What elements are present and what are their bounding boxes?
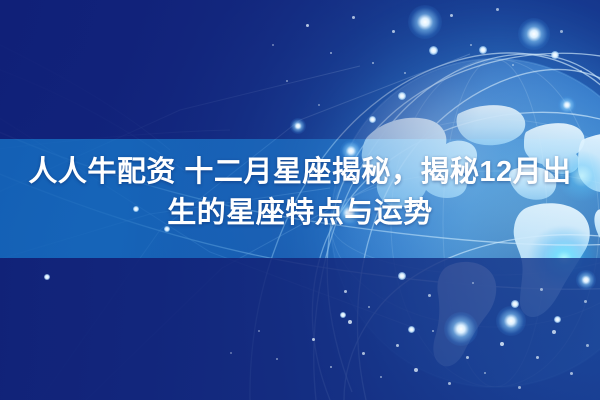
- bokeh-dot-particle: [392, 30, 395, 33]
- bokeh-dot-particle: [352, 16, 355, 19]
- bokeh-dot-particle: [344, 290, 347, 293]
- network-node-dot: [398, 92, 406, 100]
- bokeh-dot-particle: [580, 70, 582, 72]
- bokeh-dot-particle: [450, 14, 453, 17]
- network-node-dot: [429, 46, 438, 55]
- bokeh-dot-particle: [518, 386, 521, 389]
- bokeh-dot-particle: [230, 352, 232, 354]
- network-node-dot: [408, 326, 415, 333]
- bokeh-dot-particle: [330, 52, 332, 54]
- bokeh-dot-particle: [584, 300, 587, 303]
- bokeh-dot-particle: [362, 352, 365, 355]
- page-title: 人人牛配资 十二月星座揭秘，揭秘12月出生的星座特点与运势: [20, 152, 580, 234]
- bokeh-dot-particle: [306, 24, 309, 27]
- bokeh-dot-particle: [448, 382, 451, 385]
- bokeh-dot-particle: [560, 30, 563, 33]
- bokeh-dot-particle: [466, 356, 469, 359]
- network-node-dot: [479, 46, 487, 54]
- bokeh-dot-particle: [368, 306, 370, 308]
- bokeh-dot-particle: [484, 372, 486, 374]
- bokeh-dot-particle: [586, 344, 589, 347]
- article-banner: 人人牛配资 十二月星座揭秘，揭秘12月出生的星座特点与运势: [0, 0, 600, 400]
- bokeh-dot-particle: [286, 80, 288, 82]
- bokeh-dot-particle: [414, 368, 418, 372]
- network-node-dot: [398, 272, 406, 280]
- network-node-dot: [554, 316, 561, 323]
- glowing-star-particle: [496, 306, 526, 336]
- bokeh-dot-particle: [552, 330, 556, 334]
- bokeh-dot-particle: [372, 62, 374, 64]
- bokeh-dot-particle: [496, 8, 499, 11]
- network-node-dot: [551, 51, 559, 59]
- bokeh-dot-particle: [380, 376, 382, 378]
- bokeh-dot-particle: [432, 330, 434, 332]
- bokeh-dot-particle: [540, 288, 543, 291]
- bokeh-dot-particle: [330, 366, 332, 368]
- bokeh-dot-particle: [570, 372, 573, 375]
- glowing-star-particle: [518, 18, 550, 50]
- glowing-star-particle: [408, 5, 442, 39]
- bokeh-dot-particle: [272, 44, 274, 46]
- bokeh-dot-particle: [348, 320, 352, 324]
- bokeh-dot-particle: [428, 294, 431, 297]
- bokeh-dot-particle: [396, 344, 399, 347]
- bokeh-dot-particle: [312, 338, 315, 341]
- bokeh-dot-particle: [500, 342, 504, 346]
- network-node-dot: [44, 274, 50, 280]
- bokeh-dot-particle: [472, 282, 474, 284]
- bokeh-dot-particle: [512, 64, 514, 66]
- network-node-dot: [340, 312, 346, 318]
- bokeh-dot-particle: [536, 356, 539, 359]
- bokeh-dot-particle: [276, 358, 278, 360]
- glowing-star-particle: [558, 96, 576, 114]
- glowing-star-particle: [290, 118, 306, 134]
- bokeh-dot-particle: [318, 104, 320, 106]
- bokeh-dot-particle: [470, 44, 472, 46]
- network-node-dot: [511, 300, 519, 308]
- glowing-star-particle: [444, 312, 478, 346]
- glowing-star-particle: [576, 270, 596, 290]
- network-node-dot: [369, 116, 376, 123]
- bokeh-dot-particle: [258, 330, 260, 332]
- bokeh-dot-particle: [404, 72, 406, 74]
